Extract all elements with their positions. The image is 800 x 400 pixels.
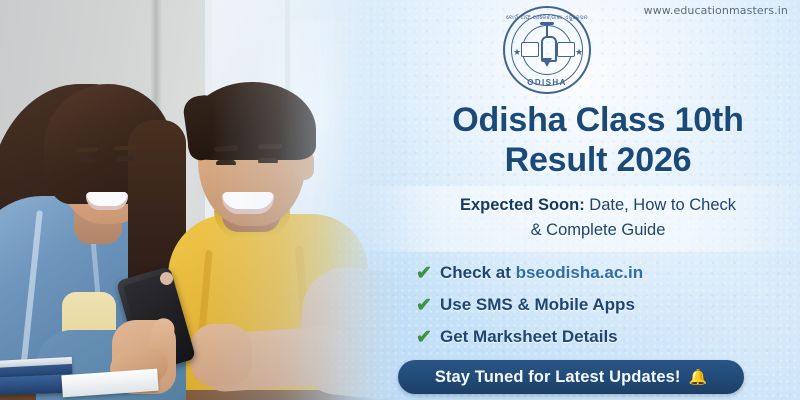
feature-list: ✔ Check at bseodisha.ac.in ✔ Use SMS & M… <box>416 258 796 354</box>
list-item-text: Use SMS & Mobile Apps <box>440 295 635 314</box>
check-icon: ✔ <box>416 264 440 283</box>
bell-icon: 🔔 <box>688 370 707 385</box>
subtitle-line-2: & Complete Guide <box>531 221 666 239</box>
list-item: ✔ Check at bseodisha.ac.in <box>416 258 796 288</box>
check-icon: ✔ <box>416 328 440 347</box>
subtitle: Expected Soon: Date, How to Check & Comp… <box>404 193 792 243</box>
title-line-2: Result 2026 <box>396 140 800 180</box>
stay-tuned-button[interactable]: Stay Tuned for Latest Updates! 🔔 <box>398 360 744 394</box>
title-line-1: Odisha Class 10th <box>452 101 743 139</box>
subtitle-rest: Date, How to Check <box>585 196 736 214</box>
page-title: Odisha Class 10th Result 2026 <box>396 100 800 180</box>
subtitle-strong: Expected Soon: <box>460 196 585 214</box>
check-icon: ✔ <box>416 296 440 315</box>
photo-fade-overlay <box>0 0 410 400</box>
list-item-label: Check at bseodisha.ac.in <box>440 263 643 283</box>
list-item-text: Check at <box>440 263 516 282</box>
list-item-text: Get Marksheet Details <box>440 327 618 346</box>
result-announcement-banner: www.educationmasters.in ବୋର୍ଡ ଅଫ ସେକେଣ୍ଡ… <box>0 0 800 400</box>
list-item: ✔ Get Marksheet Details <box>416 322 796 352</box>
website-url: bseodisha.ac.in <box>516 263 644 282</box>
stay-tuned-label: Stay Tuned for Latest Updates! <box>435 368 681 387</box>
list-item: ✔ Use SMS & Mobile Apps <box>416 290 796 320</box>
banner-content: Odisha Class 10th Result 2026 Expected S… <box>396 0 800 400</box>
students-photo <box>0 0 410 400</box>
list-item-label: Get Marksheet Details <box>440 327 618 347</box>
list-item-label: Use SMS & Mobile Apps <box>440 295 635 315</box>
